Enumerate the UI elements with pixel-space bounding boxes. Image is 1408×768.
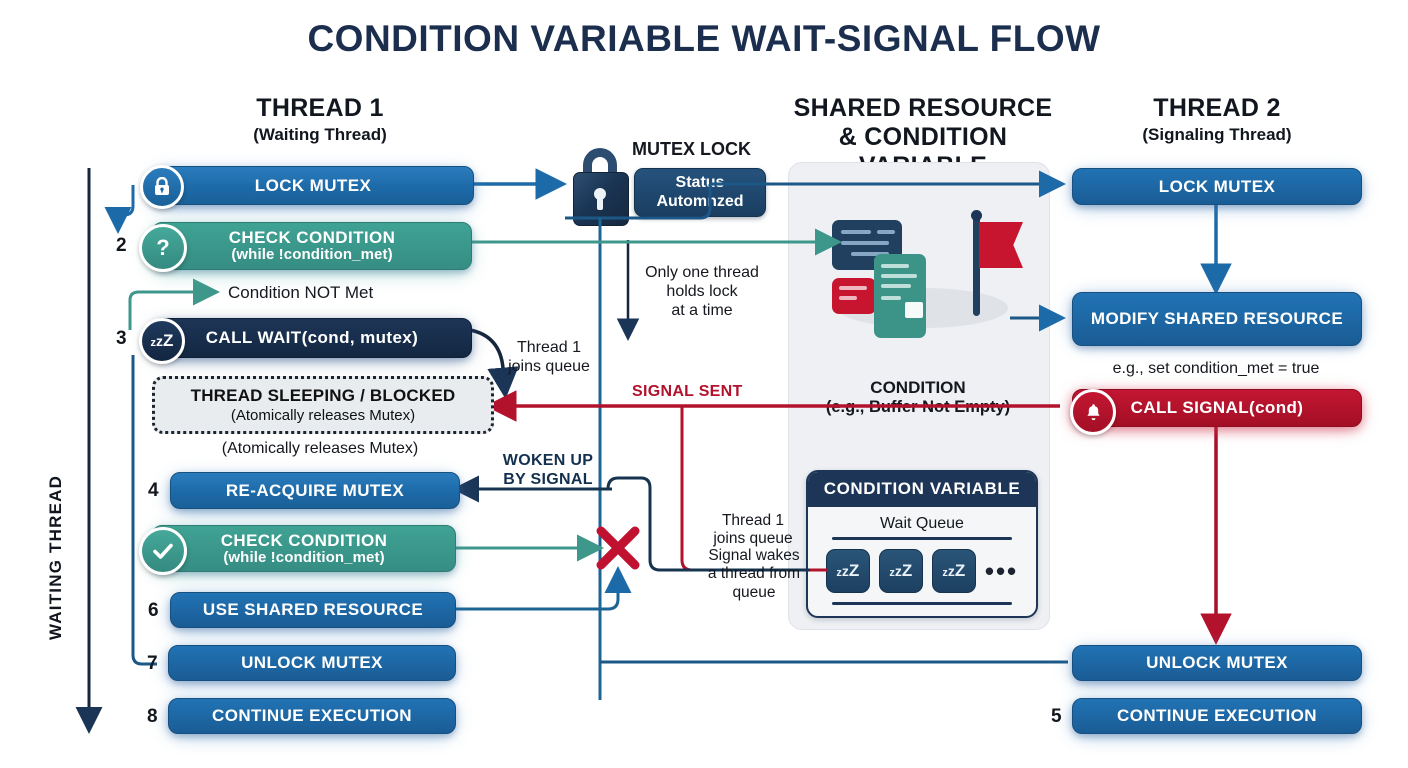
page-title: CONDITION VARIABLE WAIT-SIGNAL FLOW [0, 18, 1408, 60]
only-one-thread-note: Only one thread holds lock at a time [632, 264, 772, 321]
thread-sleeping-line1: THREAD SLEEPING / BLOCKED [191, 386, 456, 406]
t1-step-number-4: 4 [148, 480, 159, 502]
t2-unlock-mutex-label: UNLOCK MUTEX [1146, 653, 1288, 672]
thread2-subheading: (Signaling Thread) [1072, 125, 1362, 145]
lock-icon [140, 165, 184, 209]
t1-unlock-mutex-label: UNLOCK MUTEX [241, 653, 383, 672]
column-header-thread1: THREAD 1 (Waiting Thread) [170, 94, 470, 145]
condition-variable-card: CONDITION VARIABLE Wait Queue zzZ zzZ zz… [806, 470, 1038, 618]
condition-subtitle: (e.g., Buffer Not Empty) [780, 398, 1056, 417]
t1-step-number-2: 2 [116, 235, 127, 257]
bell-icon [1070, 389, 1116, 435]
t2-step-continue-execution[interactable]: CONTINUE EXECUTION [1072, 698, 1362, 734]
condition-not-met-note: Condition NOT Met [228, 283, 373, 303]
t1-check-condition-1-sub: (while !condition_met) [231, 247, 392, 264]
queue-slot: zzZ [879, 549, 923, 593]
t2-step-number-5: 5 [1051, 706, 1062, 728]
t1-check-condition-2-sub: (while !condition_met) [223, 550, 384, 567]
mutex-status-line1: Status [676, 174, 725, 192]
woken-up-by-signal-note: WOKEN UP BY SIGNAL [488, 452, 608, 490]
mutex-lock-label: MUTEX LOCK [632, 139, 751, 160]
sleep-zzz-icon: zzZ [139, 318, 185, 364]
thread1-heading: THREAD 1 [170, 94, 470, 123]
thread-sleeping-box: THREAD SLEEPING / BLOCKED (Atomically re… [152, 376, 494, 434]
wait-queue-slots: zzZ zzZ zzZ ••• [818, 549, 1026, 593]
atomically-releases-note: (Atomically releases Mutex) [152, 440, 488, 459]
t1-step-number-8: 8 [147, 706, 158, 728]
t2-step-unlock-mutex[interactable]: UNLOCK MUTEX [1072, 645, 1362, 681]
t1-step-reacquire-mutex[interactable]: RE-ACQUIRE MUTEX [170, 472, 460, 509]
t1-step-check-condition-1[interactable]: CHECK CONDITION (while !condition_met) [152, 222, 472, 270]
t1-use-shared-resource-label: USE SHARED RESOURCE [203, 600, 423, 619]
condition-title: CONDITION [788, 378, 1048, 398]
queue-rule-top [832, 537, 1012, 540]
waiting-thread-lane-label: WAITING THREAD [46, 475, 66, 640]
t2-modify-note: e.g., set condition_met = true [1072, 360, 1360, 379]
t1-step-lock-mutex-label: LOCK MUTEX [255, 176, 371, 195]
signal-wakes-note: Signal wakes a thread from queue [689, 547, 819, 602]
t1-check-condition-1-label: CHECK CONDITION [229, 228, 396, 247]
t2-continue-execution-label: CONTINUE EXECUTION [1117, 706, 1317, 725]
t2-lock-mutex-label: LOCK MUTEX [1159, 177, 1275, 196]
wait-queue-label: Wait Queue [818, 515, 1026, 533]
t2-modify-shared-resource-label: MODIFY SHARED RESOURCE [1091, 309, 1343, 328]
mutex-status-box: Status Automnzed [634, 168, 766, 217]
thread1-joins-queue-note-2: Thread 1 joins queue [693, 512, 813, 549]
signal-sent-label: SIGNAL SENT [632, 383, 743, 402]
thread-sleeping-line2: (Atomically releases Mutex) [231, 407, 415, 424]
thread2-heading: THREAD 2 [1072, 94, 1362, 123]
t2-call-signal-label: CALL SIGNAL(cond) [1131, 398, 1304, 417]
t1-step-check-condition-2[interactable]: CHECK CONDITION (while !condition_met) [152, 525, 456, 572]
t1-step-call-wait[interactable]: CALL WAIT(cond, mutex) [152, 318, 472, 358]
t1-step-lock-mutex[interactable]: LOCK MUTEX [152, 166, 474, 205]
t1-continue-execution-label: CONTINUE EXECUTION [212, 706, 412, 725]
padlock-icon [570, 148, 630, 226]
check-icon [139, 527, 187, 575]
shared-resource-illustration [820, 210, 1030, 340]
queue-slot: zzZ [826, 549, 870, 593]
t1-reacquire-mutex-label: RE-ACQUIRE MUTEX [226, 481, 404, 500]
t1-check-condition-2-label: CHECK CONDITION [221, 531, 388, 550]
shared-heading-line1: SHARED RESOURCE [778, 94, 1068, 123]
t1-step-use-shared-resource[interactable]: USE SHARED RESOURCE [170, 592, 456, 628]
queue-slot: zzZ [932, 549, 976, 593]
column-header-thread2: THREAD 2 (Signaling Thread) [1072, 94, 1362, 145]
queue-rule-bottom [832, 602, 1012, 605]
t1-step-number-6: 6 [148, 600, 159, 622]
t1-step-number-3: 3 [116, 328, 127, 350]
flag-icon [960, 210, 1020, 320]
thread1-joins-queue-note: Thread 1 joins queue [494, 339, 604, 377]
thread1-subheading: (Waiting Thread) [170, 125, 470, 145]
t1-call-wait-label: CALL WAIT(cond, mutex) [206, 328, 418, 347]
mutex-status-line2: Automnzed [656, 193, 743, 211]
x-mark-icon [601, 531, 635, 565]
t1-step-continue-execution[interactable]: CONTINUE EXECUTION [168, 698, 456, 734]
t2-step-lock-mutex[interactable]: LOCK MUTEX [1072, 168, 1362, 205]
t1-step-number-7: 7 [147, 653, 158, 675]
t2-step-modify-shared-resource[interactable]: MODIFY SHARED RESOURCE [1072, 292, 1362, 346]
condition-variable-header: CONDITION VARIABLE [808, 472, 1036, 507]
t1-step-unlock-mutex[interactable]: UNLOCK MUTEX [168, 645, 456, 681]
queue-overflow-dots: ••• [985, 565, 1018, 578]
question-icon: ? [139, 224, 187, 272]
diagram-canvas: CONDITION VARIABLE WAIT-SIGNAL FLOW THRE… [0, 0, 1408, 768]
